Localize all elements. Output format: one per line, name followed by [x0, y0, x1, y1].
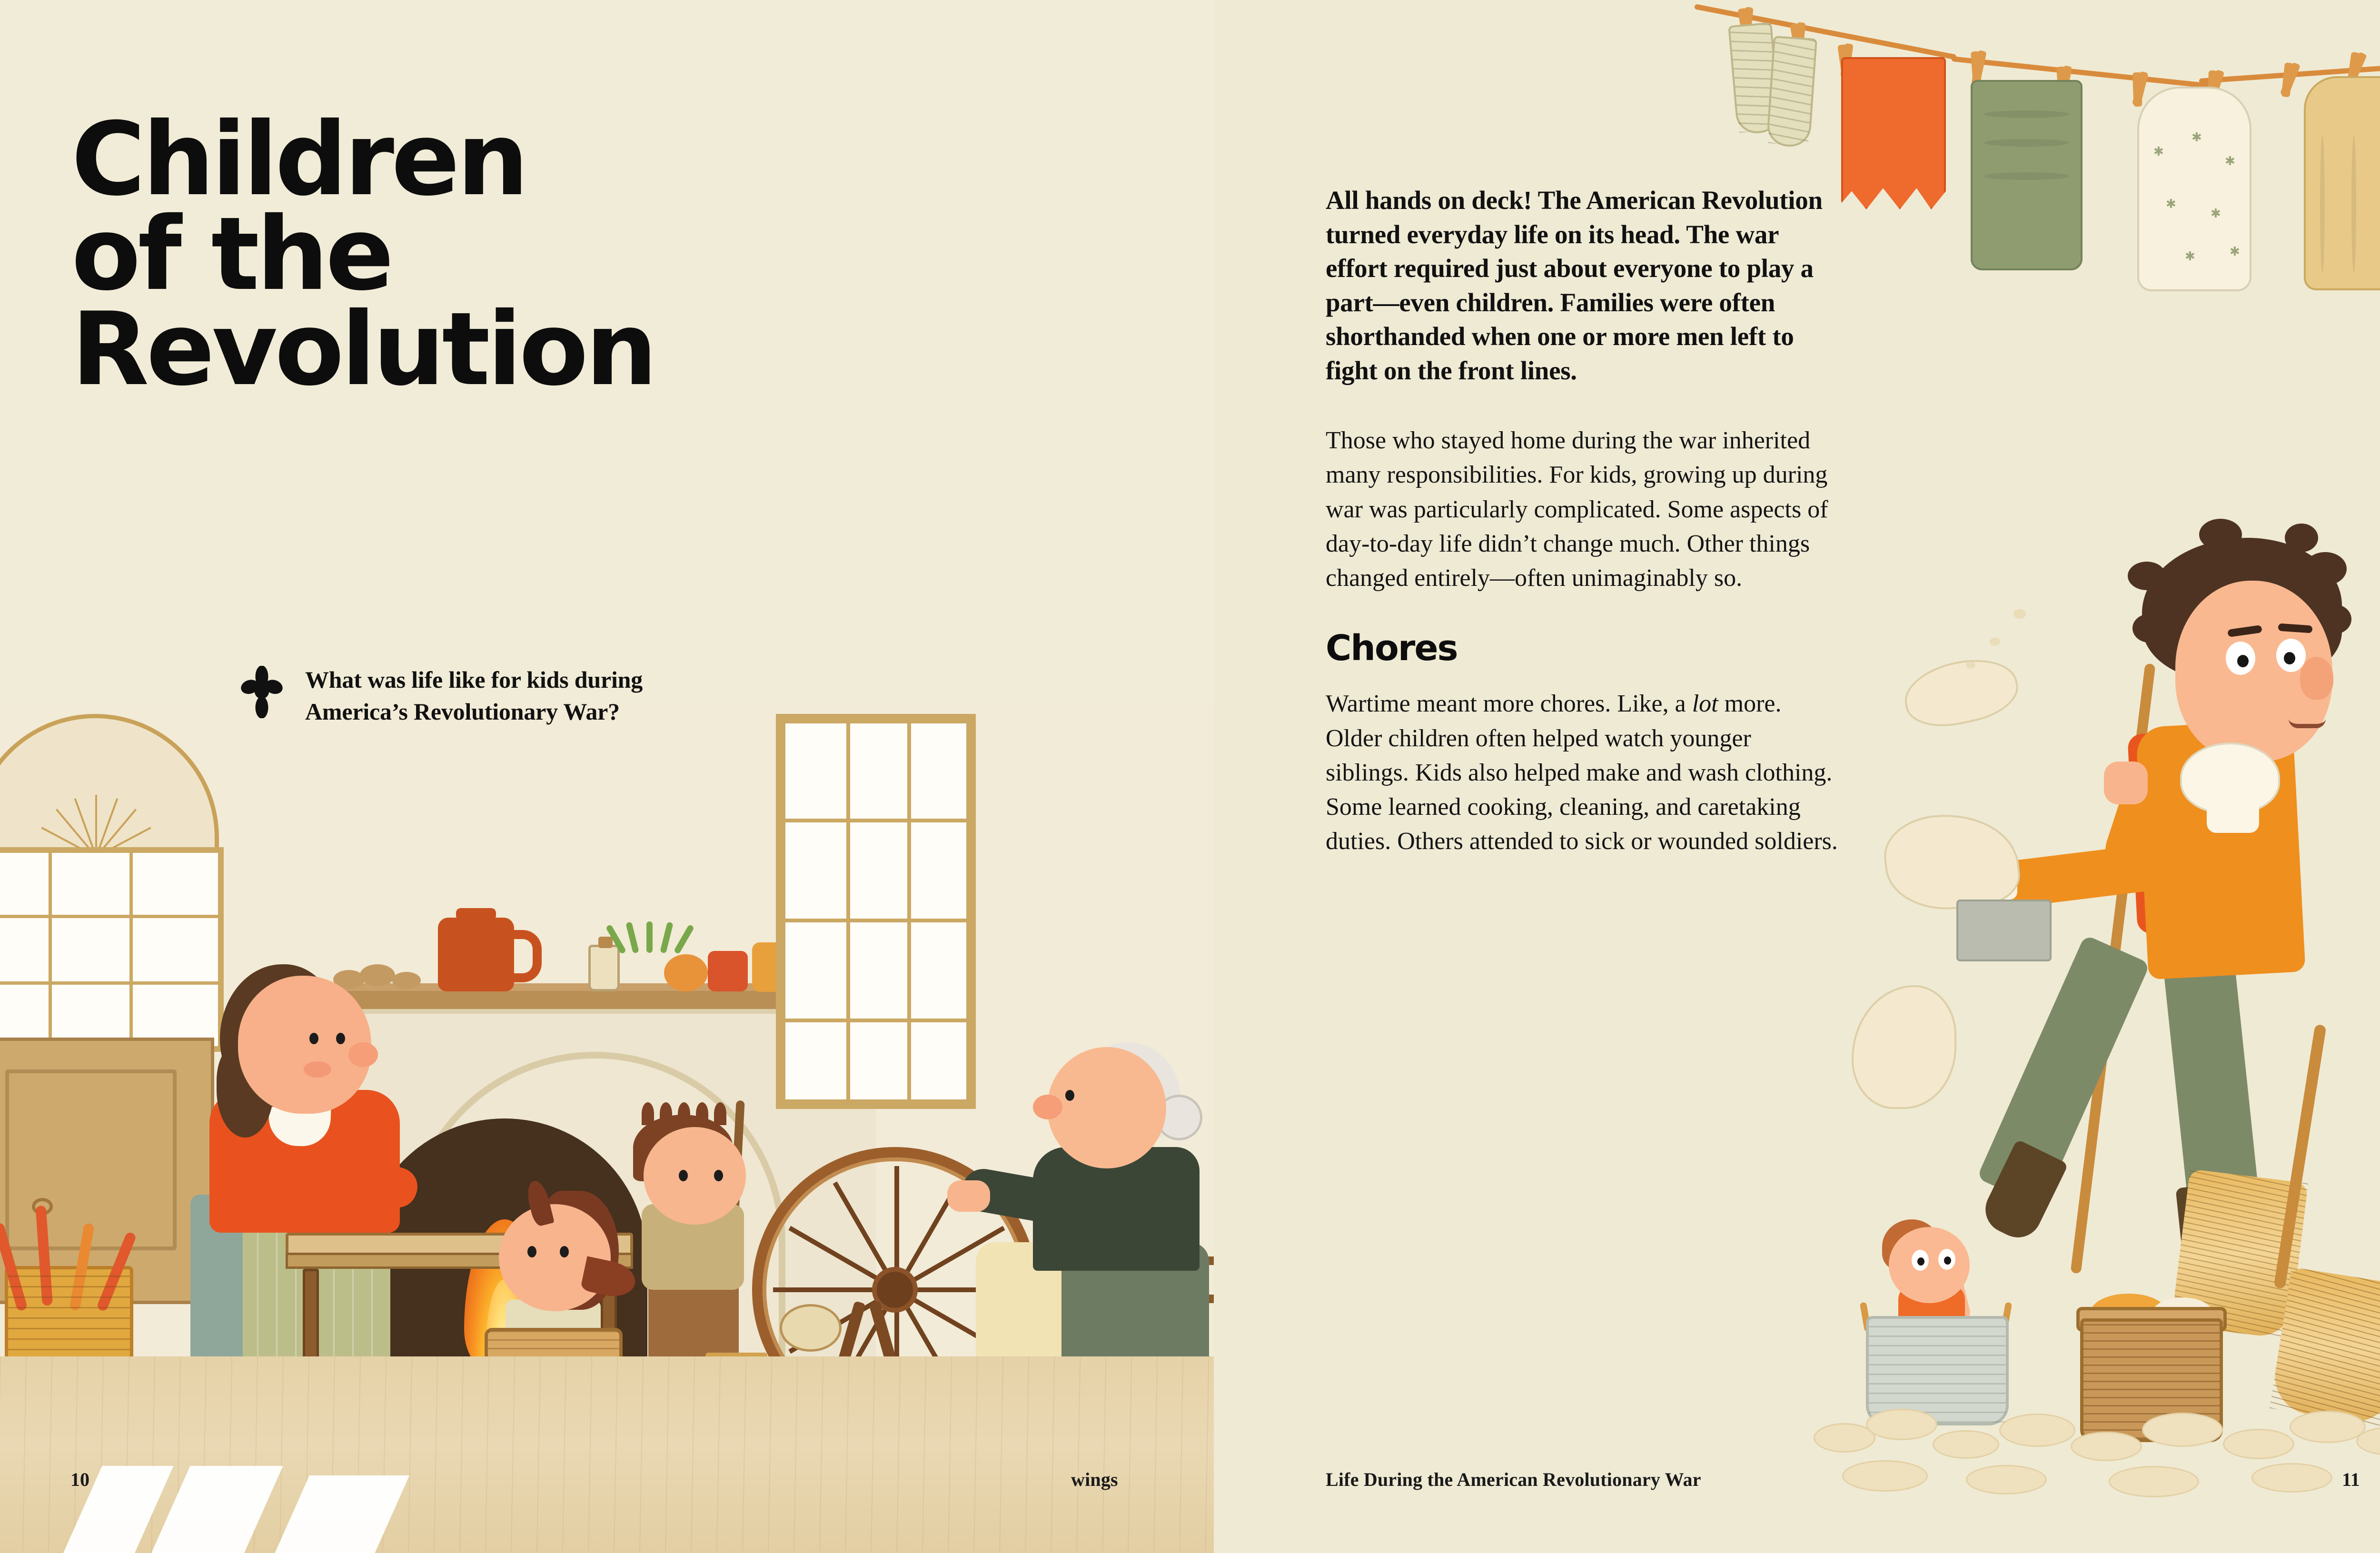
- fireplace: [314, 1009, 876, 1385]
- clothesline-rope: [1694, 4, 1957, 60]
- sunlight-patch: [148, 1466, 283, 1553]
- table-apron: [286, 1253, 633, 1269]
- boy-leg: [1977, 935, 2151, 1207]
- boy-cuff: [1981, 847, 2017, 900]
- boy-with-broom: [619, 1118, 776, 1461]
- clothespin-icon: [2347, 52, 2360, 87]
- emphasis-lot: lot: [1692, 690, 1718, 717]
- tan-dress: [2304, 76, 2380, 290]
- green-shirt: [1971, 80, 2082, 270]
- section-heading-chores: Chores: [1326, 631, 1840, 666]
- straw-broom: [2266, 1204, 2380, 1452]
- boy-shoe: [2175, 1182, 2241, 1278]
- teapot: [752, 942, 809, 992]
- boy-leg: [2161, 935, 2261, 1226]
- ladder-back-chair: [1180, 1237, 1214, 1466]
- clothespin-icon: [1918, 60, 1930, 95]
- mullioned-window-left: [0, 847, 224, 1052]
- folded-gray-cloth: [1956, 900, 2052, 961]
- toddler-smock: [1898, 1285, 1965, 1347]
- book-spread: Children of the Revolution What was life…: [0, 0, 2380, 1553]
- boy-pupil: [2237, 655, 2249, 667]
- hearth-fire-inner: [486, 1279, 523, 1375]
- scattered-linens: [1814, 1404, 2380, 1547]
- page-number-right: 11: [2342, 1468, 2360, 1491]
- page-title: Children of the Revolution: [71, 112, 881, 396]
- clothespin-icon: [2207, 70, 2217, 105]
- flying-linen: [1880, 807, 2023, 916]
- wool-sock: [1766, 36, 1817, 148]
- wooden-cabinet: [0, 1038, 214, 1304]
- metal-washtub: [1866, 1316, 2009, 1425]
- kitchen-wall: [0, 704, 1214, 1380]
- herb-bundle: [619, 920, 690, 953]
- chores-paragraph: Wartime meant more chores. Like, a lot m…: [1326, 687, 1840, 859]
- folded-laundry: [2152, 1297, 2213, 1332]
- clothespin-icon: [2056, 66, 2067, 101]
- toddler-arm: [1941, 1274, 1973, 1325]
- boy-pupil: [2284, 652, 2295, 664]
- mother-figure: [167, 971, 433, 1452]
- chapter-question: What was life like for kids during Ameri…: [240, 664, 812, 727]
- brick-bake-oven: [405, 1052, 785, 1385]
- clothespin-icon: [1790, 23, 1804, 58]
- boy-arm-upper: [2098, 764, 2191, 888]
- paragraph-2: Those who stayed home during the war inh…: [1326, 424, 1840, 595]
- terracotta-jug: [438, 918, 514, 991]
- clothesline-rope: [1951, 56, 2217, 89]
- orange-kerchief: [1841, 57, 1946, 209]
- flying-linen: [1899, 650, 2023, 734]
- title-line-3: Revolution: [71, 302, 881, 396]
- clothespin-icon: [2132, 72, 2142, 107]
- hearth-opening: [362, 1118, 647, 1385]
- body-copy-column: All hands on deck! The American Revoluti…: [1326, 183, 1840, 894]
- question-line-2: America’s Revolutionary War?: [305, 696, 643, 728]
- boy-eye: [2276, 639, 2306, 672]
- toddler-head: [1889, 1227, 1970, 1303]
- title-line-2: of the: [71, 207, 881, 301]
- plank-floor: [0, 1356, 1214, 1553]
- boy-eye: [2226, 642, 2255, 675]
- clothespin-icon: [1837, 44, 1851, 79]
- boy-cravat: [2180, 742, 2280, 814]
- right-page: ✱ ✱ ✱ ✱ ✱ ✱ ✱: [1214, 0, 2380, 1553]
- toddler-in-washtub: [1852, 1218, 2052, 1442]
- running-head-right: Life During the American Revolutionary W…: [1326, 1468, 1701, 1491]
- folded-laundry: [2091, 1294, 2167, 1332]
- wool-sock: [1728, 22, 1781, 135]
- sunlight-patch: [271, 1475, 409, 1553]
- wooden-table: [286, 1233, 633, 1256]
- potatoes: [333, 961, 424, 991]
- pumpkin: [664, 954, 708, 991]
- arched-fanlight-window-icon: [0, 714, 219, 857]
- table-leg: [601, 1269, 617, 1431]
- lede-paragraph: All hands on deck! The American Revoluti…: [1326, 183, 1840, 387]
- boy-nose: [2300, 657, 2333, 700]
- flying-linen: [1852, 985, 1956, 1109]
- title-line-1: Children: [71, 112, 881, 207]
- imprint-left: wings: [1071, 1468, 1118, 1491]
- mullioned-window-right: [776, 714, 976, 1109]
- oil-bottle: [588, 945, 620, 991]
- boy-orange-coat: [2135, 720, 2305, 980]
- page-number-left: 10: [70, 1468, 89, 1491]
- boy-hand-on-broom: [2104, 762, 2148, 804]
- left-page: Children of the Revolution What was life…: [0, 0, 1214, 1553]
- mantel-shelf: [295, 990, 895, 1011]
- boy-waistcoat: [2127, 732, 2195, 934]
- spinning-wheel: [752, 1147, 1057, 1452]
- asterisk-flower-icon: [240, 666, 283, 718]
- grandmother-figure: [957, 1038, 1214, 1466]
- table-leg: [303, 1269, 319, 1431]
- boy-head: [2175, 581, 2332, 762]
- clothesline-rope: [2199, 61, 2380, 84]
- boy-eyebrow: [2227, 625, 2262, 637]
- colonial-kitchen-illustration: [0, 704, 1214, 1553]
- clothespin-icon: [1737, 8, 1752, 43]
- red-gourd: [708, 951, 748, 991]
- star-print-nightgown: ✱ ✱ ✱ ✱ ✱ ✱ ✱: [2137, 87, 2251, 291]
- boy-mouth: [2289, 719, 2326, 728]
- boy-eyebrow: [2278, 623, 2313, 633]
- hearth-fire-icon: [464, 1219, 545, 1376]
- boy-hand: [1949, 852, 1996, 887]
- girl-with-vegetable-basket: [476, 1185, 633, 1461]
- toddler-hair: [1882, 1219, 1939, 1272]
- clothespin-icon: [2281, 62, 2293, 97]
- straw-broom-head: [2171, 1169, 2308, 1339]
- boy-messy-hair: [2142, 538, 2342, 681]
- question-line-1: What was life like for kids during: [305, 664, 643, 696]
- clothespin-icon: [1971, 51, 1982, 86]
- wicker-laundry-basket: [2080, 1285, 2223, 1442]
- boy-arm: [1988, 841, 2182, 910]
- broom-handle: [2070, 663, 2155, 1274]
- frazzled-boy-illustration: [1847, 519, 2380, 1352]
- carrot-basket: [5, 1266, 133, 1385]
- boy-shoe: [1977, 1139, 2068, 1245]
